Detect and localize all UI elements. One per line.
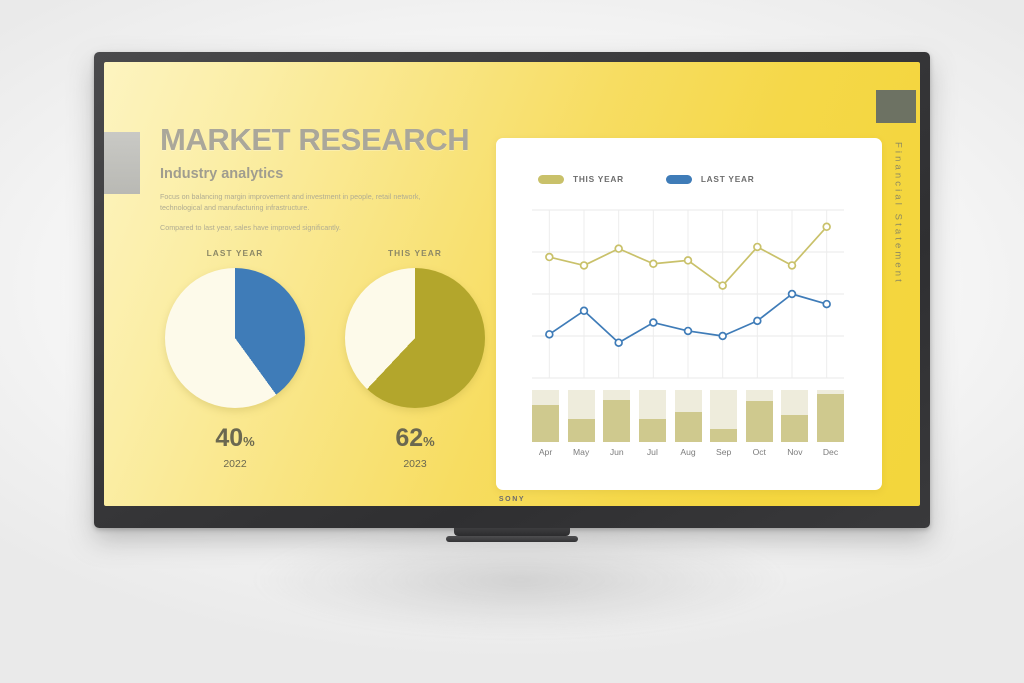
pie-caption: LAST YEAR xyxy=(160,248,310,258)
pie-value: 40% xyxy=(160,426,310,451)
line-chart xyxy=(532,210,844,378)
month-label-may: May xyxy=(568,447,595,457)
bar-jul xyxy=(639,390,666,442)
ir-sensor-bar xyxy=(446,536,578,542)
bar-chart xyxy=(532,390,844,442)
legend-label: LAST YEAR xyxy=(701,174,755,184)
month-label-aug: Aug xyxy=(675,447,702,457)
chart-legend: THIS YEAR LAST YEAR xyxy=(538,174,754,184)
bar-oct xyxy=(746,390,773,442)
device-shadow xyxy=(150,520,890,670)
legend-item-this-year: THIS YEAR xyxy=(538,174,624,184)
legend-swatch-icon xyxy=(538,175,564,184)
month-label-jul: Jul xyxy=(639,447,666,457)
bar-fill xyxy=(746,401,773,442)
body-paragraph-2: Compared to last year, sales have improv… xyxy=(160,223,456,234)
bar-fill xyxy=(675,412,702,442)
month-label-dec: Dec xyxy=(817,447,844,457)
month-label-sep: Sep xyxy=(710,447,737,457)
pie-card-this-year: THIS YEAR 62% 2023 xyxy=(340,248,490,470)
pie-value-number: 40 xyxy=(215,424,243,452)
bar-apr xyxy=(532,390,559,442)
legend-swatch-icon xyxy=(666,175,692,184)
month-label-jun: Jun xyxy=(603,447,630,457)
line-chart-svg xyxy=(532,210,844,378)
pie-percent-symbol: % xyxy=(243,434,255,449)
bar-fill xyxy=(568,419,595,442)
presentation-slide: Financial Statement MARKET RESEARCH Indu… xyxy=(104,62,920,506)
rail-accent-block xyxy=(876,90,916,123)
device-stand xyxy=(454,528,570,536)
pie-caption: THIS YEAR xyxy=(340,248,490,258)
bar-fill xyxy=(603,400,630,442)
television-device: Financial Statement MARKET RESEARCH Indu… xyxy=(94,52,930,528)
bar-fill xyxy=(639,419,666,442)
bar-fill xyxy=(781,415,808,442)
brand-logo: SONY xyxy=(499,496,525,503)
text-column: MARKET RESEARCH Industry analytics Focus… xyxy=(160,124,490,233)
month-label-nov: Nov xyxy=(781,447,808,457)
bar-fill xyxy=(532,405,559,442)
pie-wrapper xyxy=(345,268,485,408)
month-axis: AprMayJunJulAugSepOctNovDec xyxy=(532,447,844,457)
pie-value-number: 62 xyxy=(395,424,423,452)
month-label-apr: Apr xyxy=(532,447,559,457)
body-paragraph-1: Focus on balancing margin improvement an… xyxy=(160,192,456,214)
bar-fill xyxy=(817,394,844,442)
pie-year: 2022 xyxy=(160,458,310,470)
pie-wrapper xyxy=(165,268,305,408)
page-subtitle: Industry analytics xyxy=(160,166,490,182)
rail-label: Financial Statement xyxy=(893,142,904,285)
chart-card: THIS YEAR LAST YEAR AprMayJunJulAugSepOc… xyxy=(496,138,882,490)
bar-jun xyxy=(603,390,630,442)
pie-value: 62% xyxy=(340,426,490,451)
bar-sep xyxy=(710,390,737,442)
pie-chart-last-year xyxy=(165,268,305,408)
month-label-oct: Oct xyxy=(746,447,773,457)
pie-chart-group: LAST YEAR 40% 2022 THIS YEAR 62% xyxy=(160,248,490,470)
decorative-left-block xyxy=(104,132,140,194)
bar-may xyxy=(568,390,595,442)
legend-item-last-year: LAST YEAR xyxy=(666,174,755,184)
pie-chart-this-year xyxy=(345,268,485,408)
pie-card-last-year: LAST YEAR 40% 2022 xyxy=(160,248,310,470)
bar-nov xyxy=(781,390,808,442)
page-title: MARKET RESEARCH xyxy=(160,124,490,155)
legend-label: THIS YEAR xyxy=(573,174,624,184)
pie-year: 2023 xyxy=(340,458,490,470)
pie-percent-symbol: % xyxy=(423,434,435,449)
right-rail: Financial Statement xyxy=(876,62,920,506)
bar-aug xyxy=(675,390,702,442)
bar-fill xyxy=(710,429,737,442)
screen: Financial Statement MARKET RESEARCH Indu… xyxy=(104,62,920,506)
bar-dec xyxy=(817,390,844,442)
